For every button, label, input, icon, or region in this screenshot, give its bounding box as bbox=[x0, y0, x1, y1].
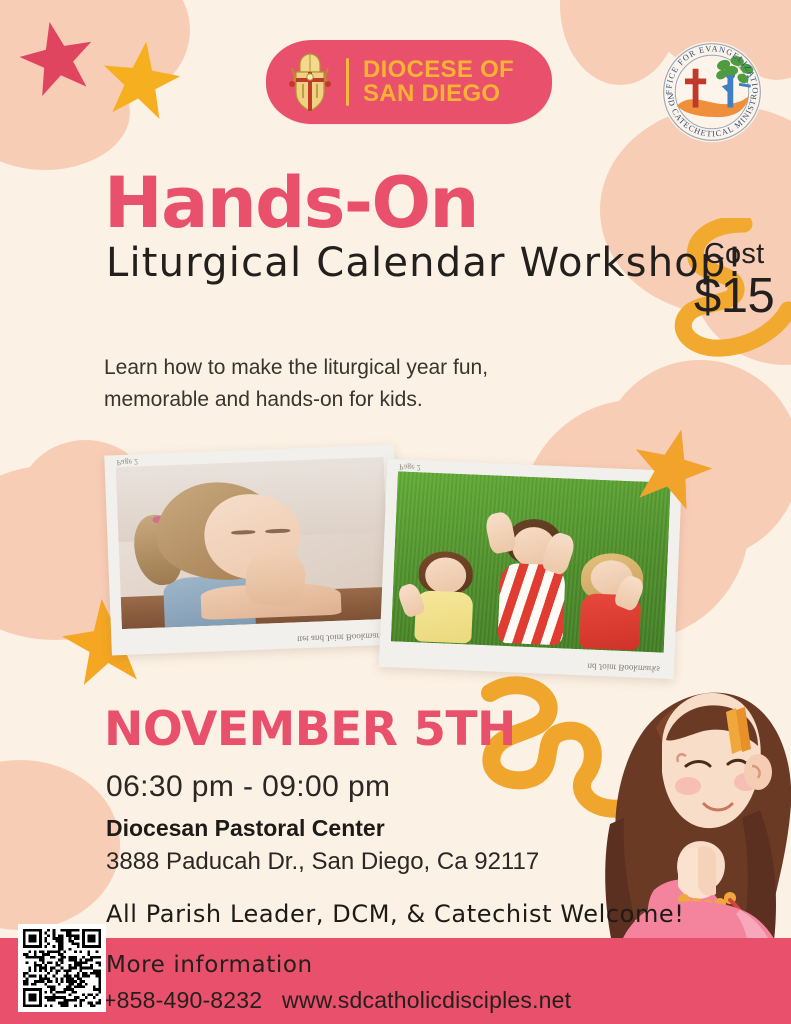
event-venue: Diocesan Pastoral Center bbox=[106, 817, 385, 840]
evangelization-seal-icon: OFFICE FOR EVANGELIZATION AND CATECHETIC… bbox=[654, 34, 770, 150]
logo-text-line2: SAN DIEGO bbox=[363, 82, 514, 106]
page-subtitle: Liturgical Calendar Workshop! bbox=[106, 243, 744, 283]
footer-website[interactable]: www.sdcatholicdisciples.net bbox=[282, 987, 571, 1013]
logo-text-line1: DIOCESE OF bbox=[363, 58, 514, 82]
photo-caption: ttet and Joint Bookmarks bbox=[297, 631, 388, 644]
photo-page-mark: Page 2 bbox=[399, 462, 421, 472]
cost-label: Cost bbox=[694, 240, 774, 269]
bishop-crest-icon bbox=[282, 50, 338, 114]
event-audience: All Parish Leader, DCM, & Catechist Welc… bbox=[106, 902, 685, 926]
logo-text: DIOCESE OF SAN DIEGO bbox=[363, 58, 514, 107]
logo-divider bbox=[346, 58, 349, 106]
footer-phone[interactable]: +858-490-8232 bbox=[103, 987, 262, 1013]
background-blob bbox=[40, 0, 190, 100]
background-blob bbox=[0, 55, 130, 170]
footer-contact: +858-490-8232 www.sdcatholicdisciples.ne… bbox=[103, 987, 571, 1014]
diocese-logo: DIOCESE OF SAN DIEGO bbox=[266, 40, 552, 124]
photo-page-mark: Page 2 bbox=[116, 457, 138, 467]
photo-girl-praying-art bbox=[116, 457, 390, 629]
cost-amount: $15 bbox=[694, 271, 774, 322]
footer-more-info-label: More information bbox=[106, 952, 313, 978]
qr-code-icon[interactable] bbox=[18, 924, 106, 1012]
event-address: 3888 Paducah Dr., San Diego, Ca 92117 bbox=[106, 850, 539, 874]
star-yellow-top-left-icon bbox=[95, 33, 188, 126]
photo-girl-praying: Page 2 ttet and Joint Bookmarks bbox=[104, 445, 401, 656]
cost-badge: Cost $15 bbox=[694, 240, 774, 322]
event-date: NOVEMBER 5TH bbox=[104, 706, 516, 753]
background-blob bbox=[0, 760, 120, 930]
star-red-top-left-icon bbox=[11, 11, 104, 104]
flyer-canvas: DIOCESE OF SAN DIEGO bbox=[0, 0, 791, 1024]
background-blob bbox=[0, 0, 160, 130]
photo-frame-inner bbox=[116, 457, 390, 629]
page-title: Hands-On bbox=[104, 168, 478, 238]
description-text: Learn how to make the liturgical year fu… bbox=[104, 352, 584, 416]
event-time: 06:30 pm - 09:00 pm bbox=[106, 772, 390, 802]
child-figure bbox=[402, 533, 488, 642]
